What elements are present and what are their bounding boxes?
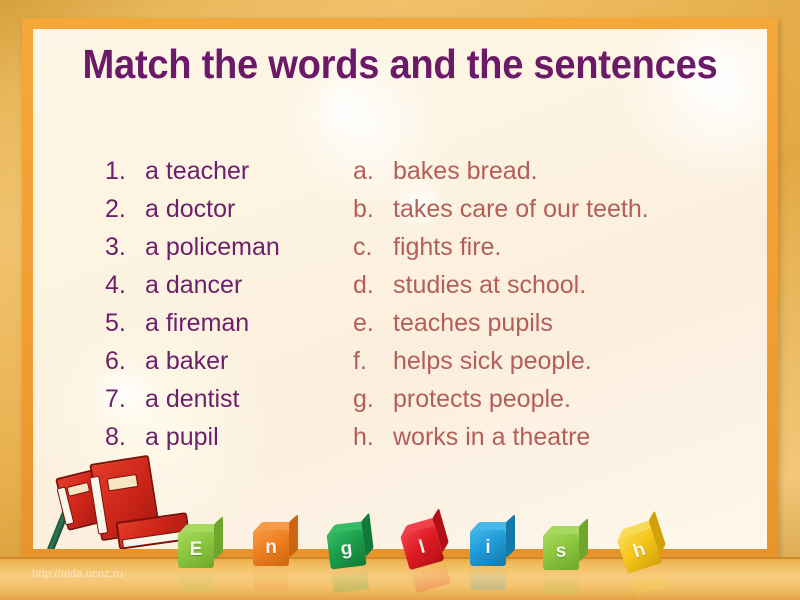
slide-canvas: Match the words and the sentences 1. a t… — [0, 0, 800, 600]
list-item[interactable]: e. teaches pupils — [353, 309, 767, 347]
matching-columns: 1. a teacher 2. a doctor 3. a policeman … — [33, 157, 767, 487]
sparkle-icon — [309, 81, 379, 136]
cube-reflection — [178, 570, 214, 592]
list-item-marker: d. — [353, 271, 393, 300]
list-item-marker: g. — [353, 385, 393, 414]
list-item-label: fights fire. — [393, 233, 501, 262]
cube-reflection — [543, 572, 579, 594]
list-item-label: a baker — [145, 347, 228, 376]
list-item-marker: e. — [353, 309, 393, 338]
list-item[interactable]: 2. a doctor — [105, 195, 355, 233]
list-item[interactable]: d. studies at school. — [353, 271, 767, 309]
list-item-marker: 1. — [105, 157, 145, 186]
list-item-marker: f. — [353, 347, 393, 376]
letter-cube-e: E — [178, 524, 222, 568]
list-item-label: teaches pupils — [393, 309, 553, 338]
list-item-label: a dancer — [145, 271, 242, 300]
list-item[interactable]: 7. a dentist — [105, 385, 355, 423]
book-label — [107, 474, 139, 492]
list-item[interactable]: g. protects people. — [353, 385, 767, 423]
cube-letter: E — [178, 532, 214, 568]
list-item-label: works in a theatre — [393, 423, 590, 452]
cube-face-side — [579, 518, 588, 562]
list-item[interactable]: c. fights fire. — [353, 233, 767, 271]
list-item-marker: h. — [353, 423, 393, 452]
book-pages — [122, 531, 185, 549]
cube-reflection — [470, 568, 506, 590]
list-item-marker: 6. — [105, 347, 145, 376]
letter-cube-g: g — [325, 520, 374, 569]
list-item-label: takes care of our teeth. — [393, 195, 649, 224]
list-item-marker: c. — [353, 233, 393, 262]
book-label — [66, 482, 90, 497]
list-item[interactable]: 6. a baker — [105, 347, 355, 385]
content-panel: Match the words and the sentences 1. a t… — [33, 29, 767, 549]
page-title: Match the words and the sentences — [59, 41, 742, 89]
list-item[interactable]: b. takes care of our teeth. — [353, 195, 767, 233]
list-item-marker: 2. — [105, 195, 145, 224]
sentences-column: a. bakes bread. b. takes care of our tee… — [353, 157, 767, 461]
list-item-label: a policeman — [145, 233, 280, 262]
list-item-label: studies at school. — [393, 271, 586, 300]
list-item-label: a pupil — [145, 423, 219, 452]
list-item[interactable]: h. works in a theatre — [353, 423, 767, 461]
list-item-label: protects people. — [393, 385, 571, 414]
cube-face-side — [289, 514, 298, 558]
list-item-marker: a. — [353, 157, 393, 186]
list-item[interactable]: 5. a fireman — [105, 309, 355, 347]
list-item-marker: 3. — [105, 233, 145, 262]
list-item[interactable]: 3. a policeman — [105, 233, 355, 271]
letter-cube-n: n — [253, 522, 297, 566]
shelf-edge-line — [0, 557, 800, 559]
letter-cube-s: s — [543, 526, 587, 570]
list-item[interactable]: 4. a dancer — [105, 271, 355, 309]
list-item-label: bakes bread. — [393, 157, 538, 186]
cube-face-side — [214, 516, 223, 560]
words-column: 1. a teacher 2. a doctor 3. a policeman … — [105, 157, 355, 461]
letter-cube-i: i — [470, 522, 514, 566]
cube-letter: s — [543, 534, 579, 570]
cube-letter: n — [253, 530, 289, 566]
list-item-label: helps sick people. — [393, 347, 592, 376]
list-item[interactable]: a. bakes bread. — [353, 157, 767, 195]
list-item-marker: 4. — [105, 271, 145, 300]
list-item-label: a fireman — [145, 309, 249, 338]
cube-face-side — [506, 514, 515, 558]
list-item[interactable]: 1. a teacher — [105, 157, 355, 195]
list-item-marker: b. — [353, 195, 393, 224]
list-item-label: a dentist — [145, 385, 240, 414]
cube-reflection — [253, 568, 289, 590]
list-item-marker: 8. — [105, 423, 145, 452]
cube-letter: g — [326, 529, 366, 569]
list-item-marker: 7. — [105, 385, 145, 414]
list-item-label: a teacher — [145, 157, 249, 186]
cube-reflection — [331, 567, 369, 593]
cube-letter: i — [470, 530, 506, 566]
list-item[interactable]: f. helps sick people. — [353, 347, 767, 385]
list-item-label: a doctor — [145, 195, 235, 224]
watermark-text: http://aida.ucoz.ru — [32, 568, 123, 580]
list-item-marker: 5. — [105, 309, 145, 338]
